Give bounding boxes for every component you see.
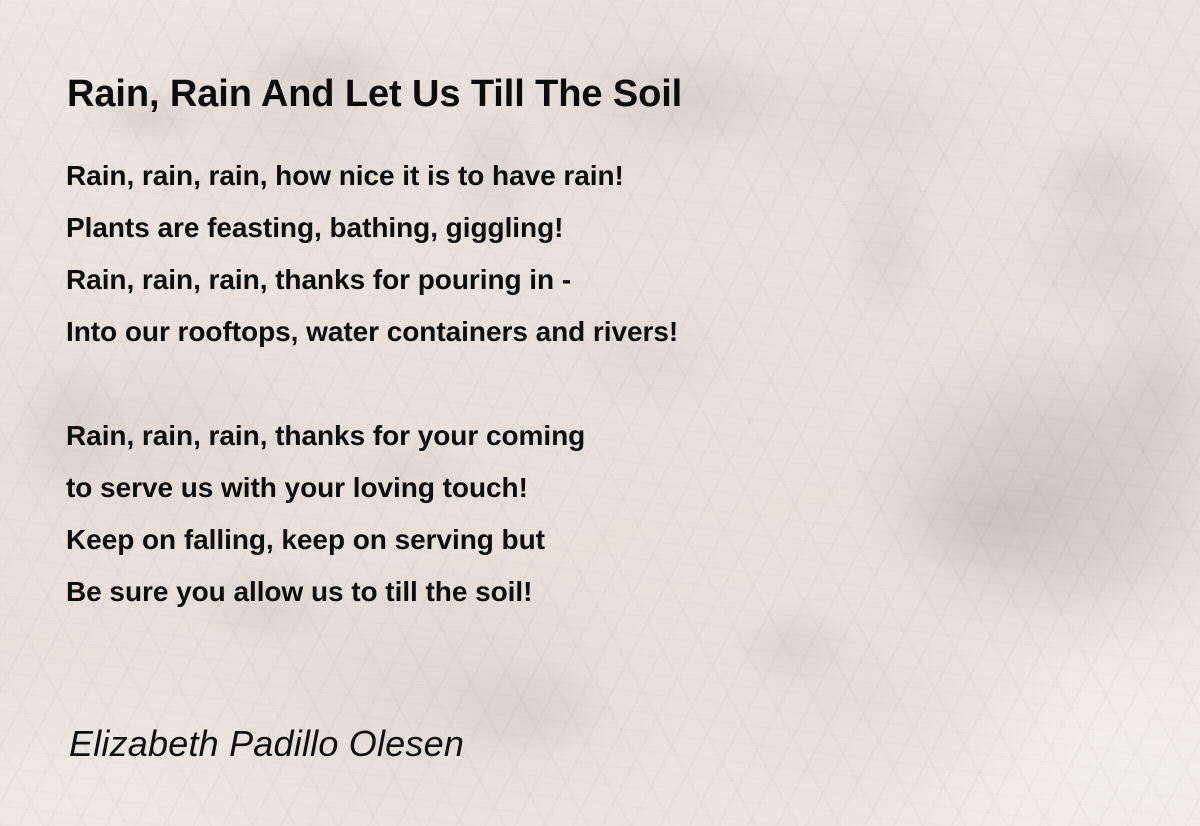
poem-content: Rain, Rain And Let Us Till The Soil Rain… [0,0,1200,826]
poem-line: Plants are feasting, bathing, giggling! [66,202,1066,254]
poem-line: Be sure you allow us to till the soil! [66,566,1066,618]
poem-line: Rain, rain, rain, thanks for your coming [66,410,1066,462]
poem-line: Rain, rain, rain, thanks for pouring in … [66,254,1066,306]
poem-author: Elizabeth Padillo Olesen [69,723,464,765]
poem-line: Keep on falling, keep on serving but [66,514,1066,566]
poem-line: Rain, rain, rain, how nice it is to have… [66,150,1066,202]
poem-stanza-2: Rain, rain, rain, thanks for your coming… [66,410,1066,618]
poem-stanza-1: Rain, rain, rain, how nice it is to have… [66,150,1066,358]
poem-body: Rain, rain, rain, how nice it is to have… [66,150,1066,618]
poem-page: Rain, Rain And Let Us Till The Soil Rain… [0,0,1200,826]
poem-line: Into our rooftops, water containers and … [66,306,1066,358]
poem-title: Rain, Rain And Let Us Till The Soil [67,73,682,116]
poem-line: to serve us with your loving touch! [66,462,1066,514]
